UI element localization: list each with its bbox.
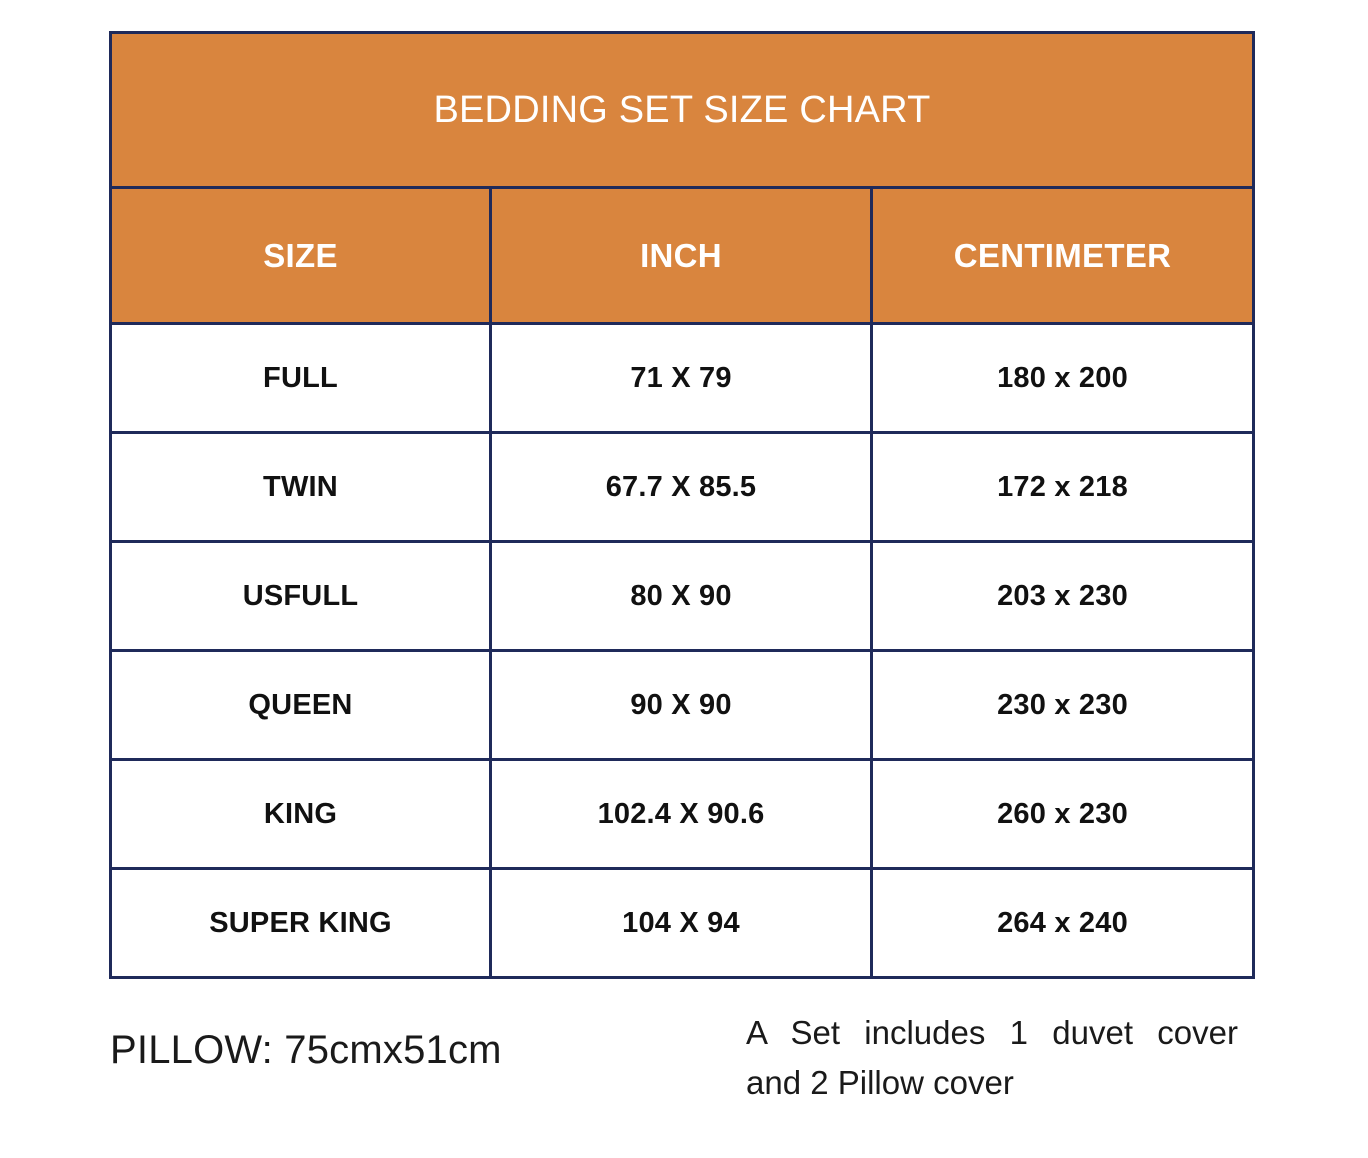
cell-centimeter: 203 x 230 [872, 542, 1254, 651]
cell-centimeter: 260 x 230 [872, 760, 1254, 869]
column-header-inch: INCH [491, 188, 872, 324]
cell-size: QUEEN [111, 651, 491, 760]
chart-title: BEDDING SET SIZE CHART [111, 33, 1254, 188]
column-header-size: SIZE [111, 188, 491, 324]
cell-size: TWIN [111, 433, 491, 542]
cell-inch: 102.4 X 90.6 [491, 760, 872, 869]
cell-inch: 71 X 79 [491, 324, 872, 433]
cell-inch: 104 X 94 [491, 869, 872, 978]
table-header-row: SIZE INCH CENTIMETER [111, 188, 1254, 324]
table-title-row: BEDDING SET SIZE CHART [111, 33, 1254, 188]
cell-inch: 90 X 90 [491, 651, 872, 760]
set-contents-note-line-1: A Set includes 1 duvet cover [746, 1008, 1238, 1058]
bedding-size-chart-table: BEDDING SET SIZE CHART SIZE INCH CENTIME… [109, 31, 1255, 979]
table-row: KING 102.4 X 90.6 260 x 230 [111, 760, 1254, 869]
table-row: USFULL 80 X 90 203 x 230 [111, 542, 1254, 651]
cell-size: USFULL [111, 542, 491, 651]
cell-centimeter: 264 x 240 [872, 869, 1254, 978]
cropped-top-heading: SIZE CHART [0, 0, 1368, 6]
set-contents-note-line-2: and 2 Pillow cover [746, 1058, 1238, 1108]
cell-size: SUPER KING [111, 869, 491, 978]
cell-centimeter: 172 x 218 [872, 433, 1254, 542]
table-row: SUPER KING 104 X 94 264 x 240 [111, 869, 1254, 978]
pillow-size-note: PILLOW: 75cmx51cm [110, 1028, 502, 1073]
cell-inch: 80 X 90 [491, 542, 872, 651]
cell-size: FULL [111, 324, 491, 433]
set-contents-note: A Set includes 1 duvet cover and 2 Pillo… [746, 1008, 1238, 1108]
table-row: TWIN 67.7 X 85.5 172 x 218 [111, 433, 1254, 542]
cell-size: KING [111, 760, 491, 869]
cell-inch: 67.7 X 85.5 [491, 433, 872, 542]
cell-centimeter: 230 x 230 [872, 651, 1254, 760]
table-row: QUEEN 90 X 90 230 x 230 [111, 651, 1254, 760]
table-row: FULL 71 X 79 180 x 200 [111, 324, 1254, 433]
cell-centimeter: 180 x 200 [872, 324, 1254, 433]
column-header-centimeter: CENTIMETER [872, 188, 1254, 324]
